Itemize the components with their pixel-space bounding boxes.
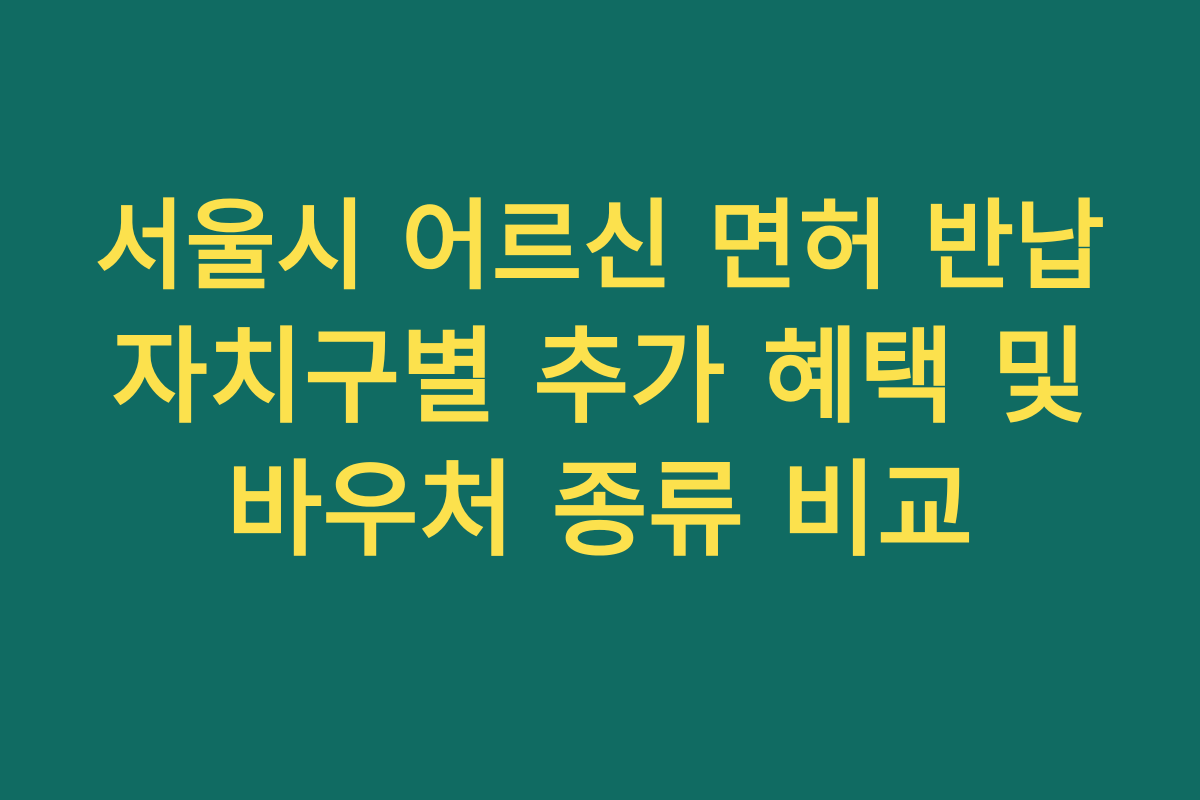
headline-line-1: 서울시 어르신 면허 반납 [95, 185, 1105, 310]
headline-line-2: 자치구별 추가 혜택 및 [112, 311, 1088, 444]
headline-block: 서울시 어르신 면허 반납 자치구별 추가 혜택 및 바우처 종류 비교 [0, 185, 1200, 577]
banner-canvas: 서울시 어르신 면허 반납 자치구별 추가 혜택 및 바우처 종류 비교 [0, 0, 1200, 800]
headline-line-3: 바우처 종류 비교 [227, 444, 974, 577]
